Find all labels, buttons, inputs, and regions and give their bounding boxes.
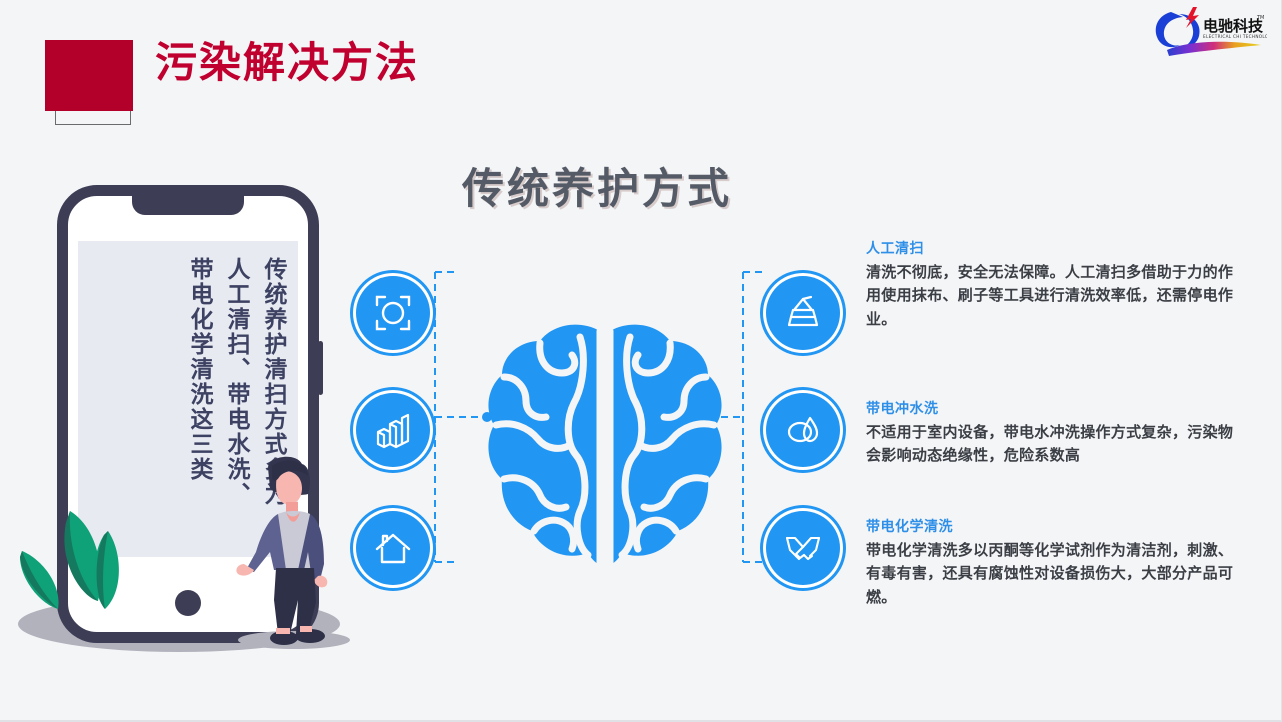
company-logo: 电驰科技 ELECTRICAL CHI TECHNOLOGY TM (1149, 4, 1267, 60)
brain-illustration (482, 315, 728, 593)
svg-text:ELECTRICAL CHI TECHNOLOGY: ELECTRICAL CHI TECHNOLOGY (1203, 34, 1267, 39)
info-block-1: 人工清扫 清洗不彻底，安全无法保障。人工清扫多借助于力的作用使用抹布、刷子等工具… (866, 240, 1238, 331)
phone-text-line-3: 带电化学清洗这三类 (187, 257, 210, 545)
page-title: 污染解决方法 (155, 42, 419, 84)
person-illustration (230, 452, 360, 650)
header-square-solid (45, 40, 133, 111)
bar-chart-icon[interactable] (356, 393, 430, 467)
info-block-1-body: 清洗不彻底，安全无法保障。人工清扫多借助于力的作用使用抹布、刷子等工具进行清洗效… (866, 261, 1238, 331)
svg-text:TM: TM (1256, 15, 1264, 21)
slide-canvas: 污染解决方法 电驰科技 ELECTRICAL CHI TECHNOLOGY (0, 0, 1282, 722)
info-block-2-title: 带电冲水洗 (866, 400, 1238, 418)
info-block-3: 带电化学清洗 带电化学清洗多以丙酮等化学试剂作为清洁剂，刺激、有毒有害，还具有腐… (866, 518, 1238, 609)
info-block-1-title: 人工清扫 (866, 240, 1238, 258)
info-block-3-body: 带电化学清洗多以丙酮等化学试剂作为清洁剂，刺激、有毒有害，还具有腐蚀性对设备损伤… (866, 539, 1238, 609)
phone-home-button (175, 590, 201, 616)
house-icon[interactable] (356, 511, 430, 585)
plant-leaves-illustration (8, 505, 158, 645)
broom-sweep-icon[interactable] (766, 276, 840, 350)
phone-side-button (318, 341, 323, 395)
section-heading: 传统养护方式 (462, 168, 732, 210)
phone-notch (132, 195, 244, 215)
info-block-2: 带电冲水洗 不适用于室内设备，带电水冲洗操作方式复杂，污染物会影响动态绝缘性，危… (866, 400, 1238, 468)
focus-frame-icon[interactable] (356, 276, 430, 350)
handshake-icon[interactable] (766, 511, 840, 585)
svg-text:电驰科技: 电驰科技 (1203, 17, 1264, 35)
water-spray-icon[interactable] (766, 393, 840, 467)
info-block-2-body: 不适用于室内设备，带电水冲洗操作方式复杂，污染物会影响动态绝缘性，危险系数高 (866, 421, 1238, 468)
info-block-3-title: 带电化学清洗 (866, 518, 1238, 536)
